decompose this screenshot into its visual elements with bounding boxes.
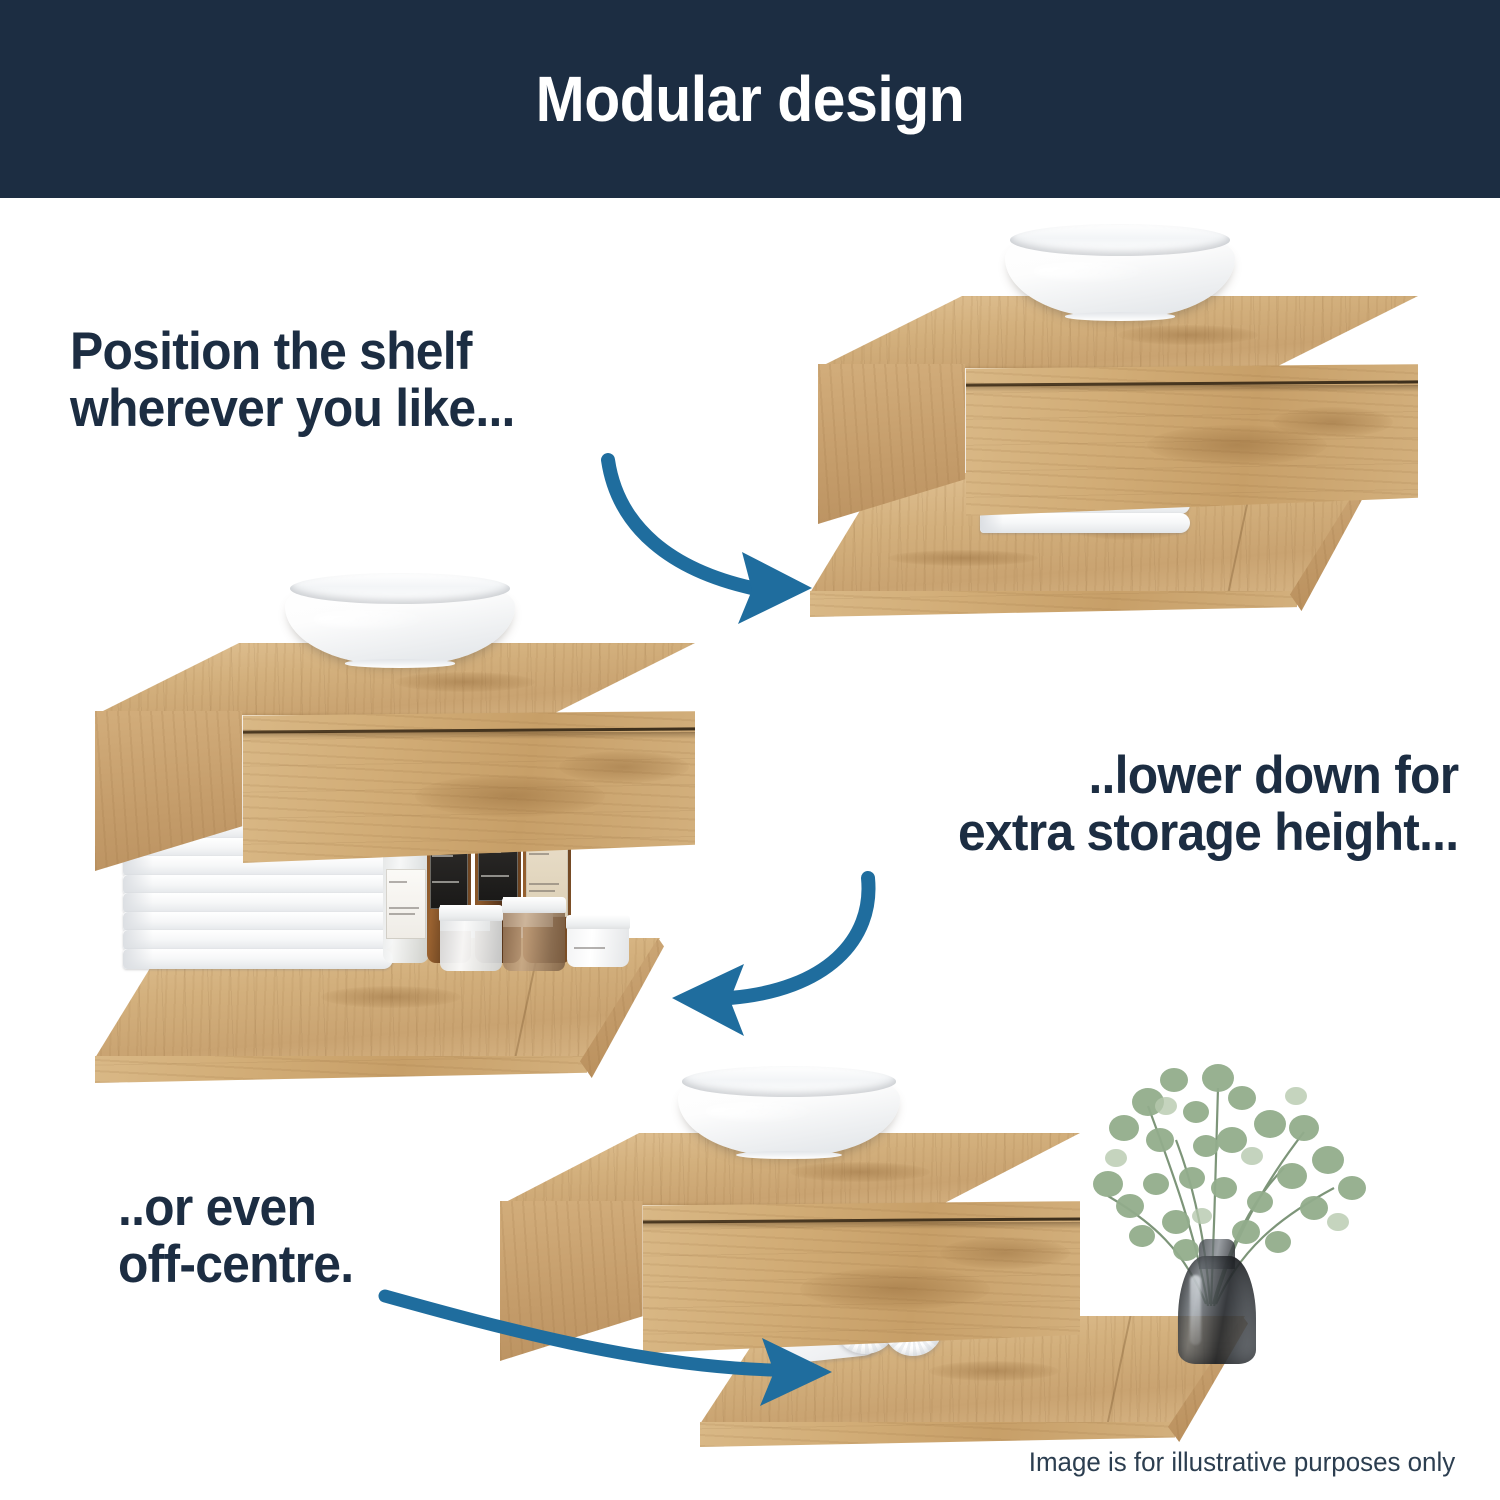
countertop-basin	[1005, 224, 1235, 318]
basin-rim	[1010, 224, 1231, 256]
scene-shelf-low-position	[95, 583, 715, 1083]
illustration-stage: Position the shelf wherever you like... …	[0, 198, 1500, 1500]
basin-rim	[682, 1066, 895, 1097]
unit-front-face	[243, 711, 695, 863]
drawer-shadow	[966, 385, 1418, 392]
unit-front-face	[966, 364, 1418, 516]
callout-off-centre: ..or even off-centre.	[118, 1180, 353, 1293]
callout-lower-down: ..lower down for extra storage height...	[958, 748, 1458, 861]
drawer-shadow	[643, 1222, 1080, 1229]
folded-towel	[123, 912, 393, 931]
storage-jar	[440, 905, 502, 971]
storage-jar	[567, 915, 629, 967]
countertop-basin	[678, 1066, 900, 1156]
vase-highlight	[1190, 1275, 1200, 1344]
glass-vase	[1178, 1256, 1256, 1364]
folded-towel	[123, 949, 393, 969]
basin-foot	[736, 1151, 843, 1159]
storage-jar	[503, 897, 565, 971]
unit-left-side	[95, 711, 255, 871]
scene-shelf-high-position	[810, 218, 1450, 658]
countertop-basin	[285, 573, 515, 665]
unit-left-side	[500, 1201, 655, 1361]
shelf-front-edge	[810, 591, 1297, 617]
basin-foot	[1065, 312, 1175, 320]
basin-highlight	[705, 1102, 820, 1120]
unit-front-face	[643, 1201, 1080, 1353]
drawer-shadow	[243, 732, 695, 739]
oak-vanity-unit	[500, 1133, 1100, 1363]
scene-shelf-off-centre	[500, 1058, 1430, 1478]
folded-towel	[123, 930, 393, 950]
folded-towel	[123, 893, 393, 913]
unit-left-side	[818, 364, 978, 524]
oak-vanity-unit	[95, 643, 695, 873]
page-title: Modular design	[536, 62, 965, 136]
folded-towel	[123, 875, 393, 894]
shelf-front-edge	[700, 1422, 1175, 1447]
basin-foot	[345, 659, 455, 667]
basin-highlight	[313, 610, 433, 628]
header-banner: Modular design	[0, 0, 1500, 198]
oak-vanity-unit	[818, 296, 1418, 526]
callout-position-the-shelf: Position the shelf wherever you like...	[70, 324, 515, 437]
